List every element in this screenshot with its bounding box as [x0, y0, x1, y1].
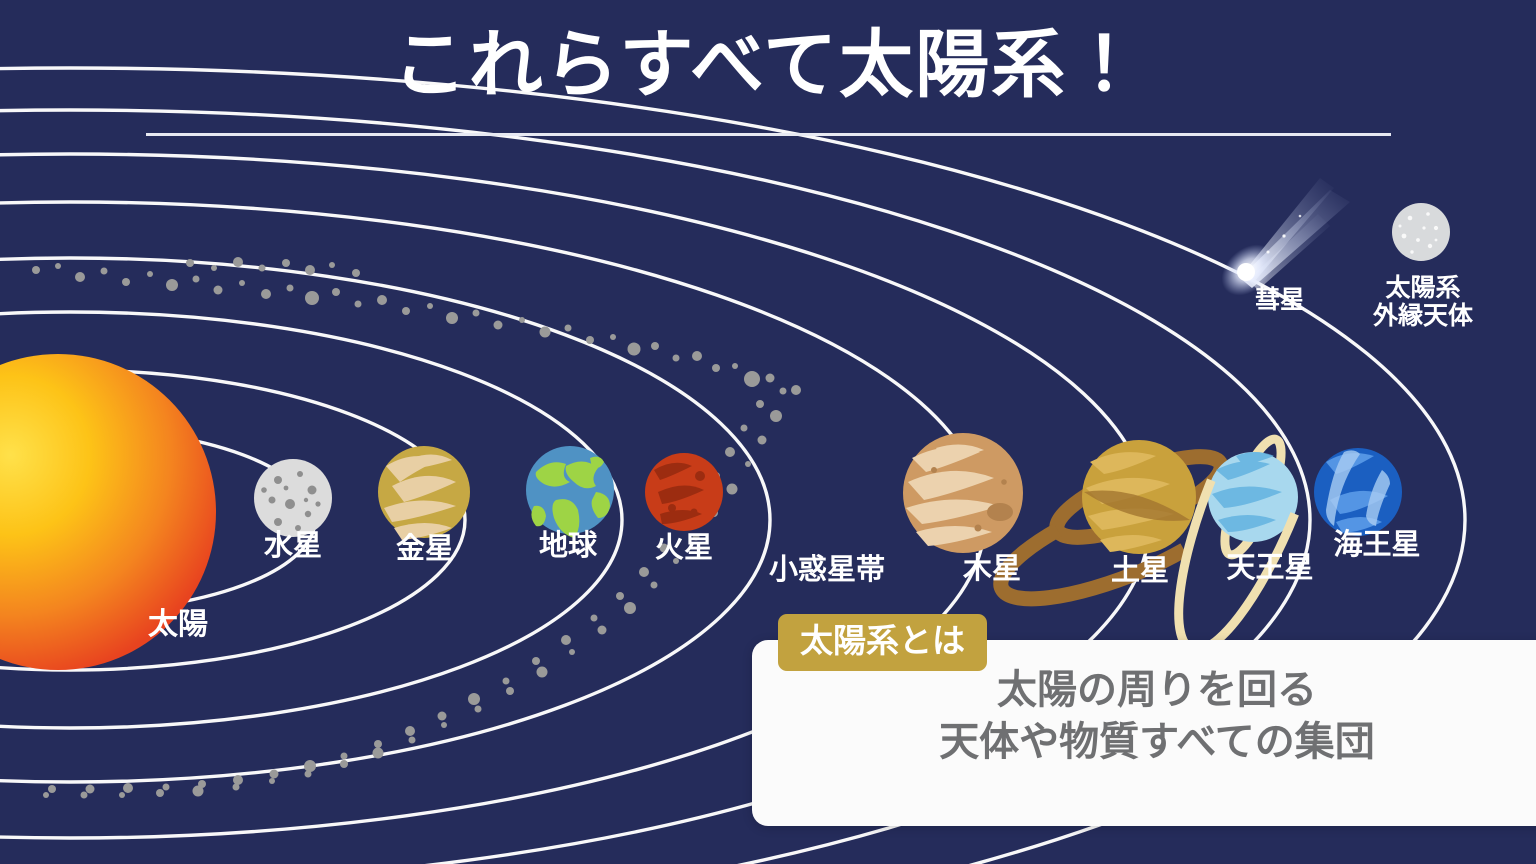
label-asteroid-belt: 小惑星帯 — [757, 554, 897, 586]
page-title: これらすべて太陽系！ — [0, 22, 1536, 108]
info-card-badge: 太陽系とは — [778, 614, 987, 671]
label-earth: 地球 — [516, 530, 620, 562]
earth-body — [526, 446, 614, 538]
tno-icon — [1392, 203, 1450, 261]
label-jupiter: 木星 — [942, 553, 1042, 585]
label-venus: 金星 — [375, 533, 475, 565]
label-comet: 彗星 — [1222, 286, 1338, 314]
venus-body — [378, 446, 470, 540]
neptune-body — [1314, 448, 1402, 536]
label-mars: 火星 — [634, 532, 734, 564]
label-sun: 太陽 — [108, 608, 248, 642]
infographic-canvas: これらすべて太陽系！ 太陽 水星 金星 地球 火星 小惑星帯 木星 土星 天王星… — [0, 0, 1536, 864]
label-mercury: 水星 — [243, 530, 343, 562]
jupiter-body — [903, 433, 1023, 553]
label-saturn: 土星 — [1088, 555, 1192, 587]
label-neptune: 海王星 — [1312, 529, 1442, 561]
title-divider — [146, 133, 1391, 136]
info-card-text: 太陽の周りを回る 天体や物質すべての集団 — [832, 664, 1482, 768]
label-tno: 太陽系 外縁天体 — [1360, 274, 1486, 330]
mercury-body — [254, 459, 332, 537]
mars-body — [645, 453, 723, 531]
